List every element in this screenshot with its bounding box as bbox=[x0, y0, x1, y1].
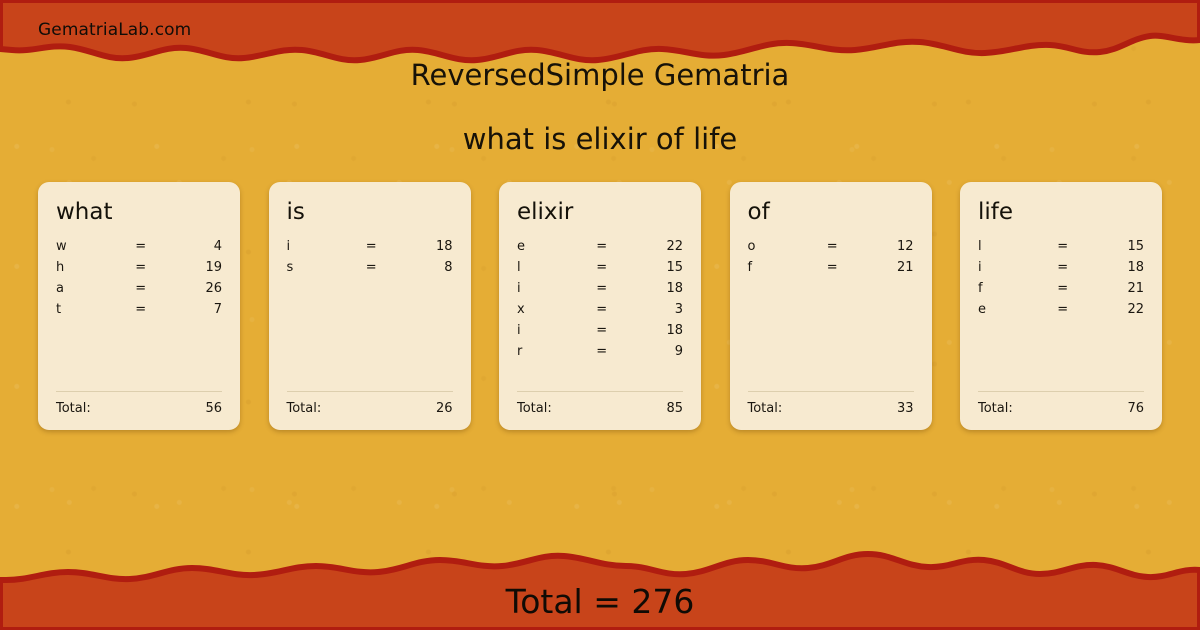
equals-sign: = bbox=[814, 260, 851, 275]
letter-row: l = 15 bbox=[517, 260, 683, 281]
word-card: elixir e = 22 l = 15 i = 18 x bbox=[499, 182, 701, 430]
letter-value: 12 bbox=[850, 239, 913, 254]
equals-sign: = bbox=[583, 302, 620, 317]
equals-sign: = bbox=[583, 323, 620, 338]
letter-glyph: a bbox=[56, 281, 122, 296]
letter-glyph: e bbox=[517, 239, 583, 254]
letter-glyph: r bbox=[517, 344, 583, 359]
equals-sign: = bbox=[583, 260, 620, 275]
equals-sign: = bbox=[122, 302, 159, 317]
gematria-result-canvas: GematriaLab.com ReversedSimple Gematria … bbox=[0, 0, 1200, 630]
equals-sign: = bbox=[122, 260, 159, 275]
letter-row: i = 18 bbox=[287, 239, 453, 260]
letter-row: s = 8 bbox=[287, 260, 453, 281]
equals-sign: = bbox=[583, 281, 620, 296]
equals-sign: = bbox=[353, 260, 390, 275]
letter-glyph: t bbox=[56, 302, 122, 317]
word-card: life l = 15 i = 18 f = 21 e bbox=[960, 182, 1162, 430]
letter-glyph: f bbox=[748, 260, 814, 275]
equals-sign: = bbox=[583, 344, 620, 359]
equals-sign: = bbox=[122, 239, 159, 254]
phrase-heading: what is elixir of life bbox=[0, 122, 1200, 156]
word-card-total: Total: 26 bbox=[287, 391, 453, 430]
letter-value-list: o = 12 f = 21 bbox=[748, 239, 914, 391]
letter-row: l = 15 bbox=[978, 239, 1144, 260]
word-card-title: life bbox=[978, 200, 1144, 225]
total-label: Total: bbox=[978, 401, 1013, 416]
letter-row: a = 26 bbox=[56, 281, 222, 302]
word-card-list: what w = 4 h = 19 a = 26 t bbox=[38, 182, 1162, 430]
word-card-title: elixir bbox=[517, 200, 683, 225]
letter-value: 18 bbox=[1081, 260, 1144, 275]
letter-row: t = 7 bbox=[56, 302, 222, 323]
letter-value: 3 bbox=[620, 302, 683, 317]
letter-glyph: f bbox=[978, 281, 1044, 296]
letter-value-list: w = 4 h = 19 a = 26 t = 7 bbox=[56, 239, 222, 391]
letter-glyph: s bbox=[287, 260, 353, 275]
letter-row: f = 21 bbox=[978, 281, 1144, 302]
word-card-total: Total: 76 bbox=[978, 391, 1144, 430]
letter-glyph: w bbox=[56, 239, 122, 254]
letter-glyph: i bbox=[517, 281, 583, 296]
grand-total: Total = 276 bbox=[0, 582, 1200, 621]
equals-sign: = bbox=[122, 281, 159, 296]
letter-value: 22 bbox=[1081, 302, 1144, 317]
letter-row: f = 21 bbox=[748, 260, 914, 281]
letter-value: 18 bbox=[620, 281, 683, 296]
letter-value: 18 bbox=[389, 239, 452, 254]
equals-sign: = bbox=[1044, 281, 1081, 296]
letter-row: e = 22 bbox=[978, 302, 1144, 323]
site-logo[interactable]: GematriaLab.com bbox=[38, 20, 191, 40]
word-card-title: is bbox=[287, 200, 453, 225]
letter-row: i = 18 bbox=[517, 281, 683, 302]
letter-row: h = 19 bbox=[56, 260, 222, 281]
equals-sign: = bbox=[1044, 302, 1081, 317]
letter-row: o = 12 bbox=[748, 239, 914, 260]
letter-row: w = 4 bbox=[56, 239, 222, 260]
letter-value: 19 bbox=[159, 260, 222, 275]
total-value: 85 bbox=[666, 401, 683, 416]
letter-value-list: l = 15 i = 18 f = 21 e = 22 bbox=[978, 239, 1144, 391]
letter-value: 9 bbox=[620, 344, 683, 359]
word-card-total: Total: 85 bbox=[517, 391, 683, 430]
total-label: Total: bbox=[56, 401, 91, 416]
letter-glyph: l bbox=[517, 260, 583, 275]
equals-sign: = bbox=[1044, 239, 1081, 254]
letter-value: 22 bbox=[620, 239, 683, 254]
letter-value: 21 bbox=[850, 260, 913, 275]
equals-sign: = bbox=[1044, 260, 1081, 275]
word-card-total: Total: 33 bbox=[748, 391, 914, 430]
equals-sign: = bbox=[583, 239, 620, 254]
letter-row: i = 18 bbox=[978, 260, 1144, 281]
word-card-title: of bbox=[748, 200, 914, 225]
letter-row: x = 3 bbox=[517, 302, 683, 323]
word-card-title: what bbox=[56, 200, 222, 225]
word-card-total: Total: 56 bbox=[56, 391, 222, 430]
letter-glyph: e bbox=[978, 302, 1044, 317]
letter-row: r = 9 bbox=[517, 344, 683, 365]
total-value: 76 bbox=[1127, 401, 1144, 416]
letter-value: 21 bbox=[1081, 281, 1144, 296]
total-label: Total: bbox=[748, 401, 783, 416]
total-label: Total: bbox=[287, 401, 322, 416]
letter-value: 15 bbox=[620, 260, 683, 275]
page-title: ReversedSimple Gematria bbox=[0, 58, 1200, 92]
word-card: of o = 12 f = 21 Total: 33 bbox=[730, 182, 932, 430]
letter-value: 18 bbox=[620, 323, 683, 338]
letter-glyph: h bbox=[56, 260, 122, 275]
letter-glyph: o bbox=[748, 239, 814, 254]
total-value: 33 bbox=[897, 401, 914, 416]
word-card: what w = 4 h = 19 a = 26 t bbox=[38, 182, 240, 430]
letter-glyph: i bbox=[517, 323, 583, 338]
letter-value: 4 bbox=[159, 239, 222, 254]
letter-value: 8 bbox=[389, 260, 452, 275]
letter-value-list: i = 18 s = 8 bbox=[287, 239, 453, 391]
letter-value: 7 bbox=[159, 302, 222, 317]
total-value: 26 bbox=[436, 401, 453, 416]
letter-glyph: x bbox=[517, 302, 583, 317]
total-label: Total: bbox=[517, 401, 552, 416]
equals-sign: = bbox=[814, 239, 851, 254]
letter-row: i = 18 bbox=[517, 323, 683, 344]
equals-sign: = bbox=[353, 239, 390, 254]
letter-glyph: i bbox=[978, 260, 1044, 275]
letter-value-list: e = 22 l = 15 i = 18 x = 3 bbox=[517, 239, 683, 391]
letter-value: 26 bbox=[159, 281, 222, 296]
word-card: is i = 18 s = 8 Total: 26 bbox=[269, 182, 471, 430]
total-value: 56 bbox=[205, 401, 222, 416]
letter-glyph: l bbox=[978, 239, 1044, 254]
letter-glyph: i bbox=[287, 239, 353, 254]
letter-row: e = 22 bbox=[517, 239, 683, 260]
letter-value: 15 bbox=[1081, 239, 1144, 254]
